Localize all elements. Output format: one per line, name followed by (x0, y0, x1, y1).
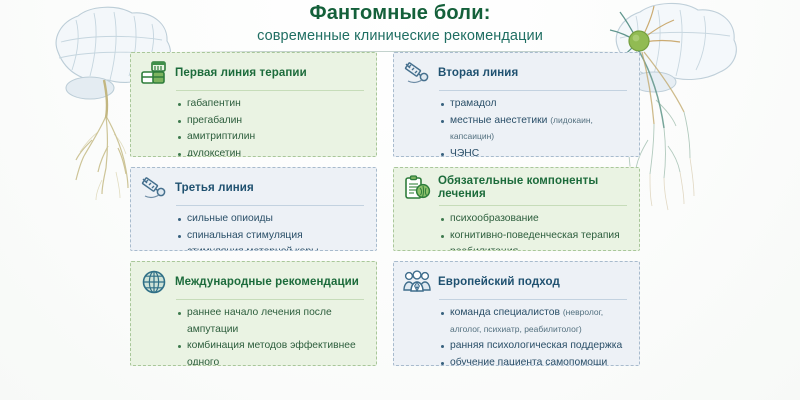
card-european-approach[interactable]: Европейский подход команда специалистов … (393, 261, 640, 366)
card-title-divider (439, 299, 627, 300)
card-header: Первая линия терапии (140, 60, 366, 90)
list-item: команда специалистов (невролог, алголог,… (441, 305, 629, 338)
card-title-divider (176, 90, 364, 91)
card-title: Обязательные компоненты лечения (438, 175, 629, 200)
card-bullet-list: команда специалистов (невролог, алголог,… (403, 305, 629, 366)
list-item: местные анестетики (лидокаин, капсаицин) (441, 113, 629, 146)
infographic-page: Фантомные боли: современные клинические … (0, 0, 800, 400)
card-title-divider (439, 90, 627, 91)
card-title-divider (176, 205, 364, 206)
card-header: Европейский подход (403, 269, 629, 299)
card-international-recommendations[interactable]: Международные рекомендации раннее начало… (130, 261, 377, 366)
list-item: когнитивно-поведенческая терапия (441, 228, 629, 245)
card-title: Международные рекомендации (175, 276, 359, 289)
card-third-line[interactable]: Третья линия сильные опиоиды спинальная … (130, 167, 377, 251)
card-second-line[interactable]: Вторая линия трамадол местные анестетики… (393, 52, 640, 157)
card-header: Обязательные компоненты лечения (403, 175, 629, 205)
card-bullet-list: габапентин прегабалин амитриптилин дулок… (140, 96, 366, 157)
list-item: реабилитация (441, 244, 629, 251)
list-item: дулоксетин (178, 146, 366, 157)
card-mandatory-components[interactable]: Обязательные компоненты лечения психообр… (393, 167, 640, 251)
list-item: прегабалин (178, 113, 366, 130)
card-bullet-list: раннее начало лечения после ампутации ко… (140, 305, 366, 366)
syringe-icon (403, 60, 431, 86)
page-title: Фантомные боли: (0, 2, 800, 25)
list-item: габапентин (178, 96, 366, 113)
globe-icon (140, 269, 168, 295)
list-item: ЧЭНС (441, 146, 629, 157)
card-bullet-list: психообразование когнитивно-поведенческа… (403, 211, 629, 251)
card-first-line-therapy[interactable]: Первая линия терапии габапентин прегабал… (130, 52, 377, 157)
clipboard-brain-icon (403, 175, 431, 201)
list-item: стимуляция моторной коры (178, 244, 366, 251)
card-bullet-list: трамадол местные анестетики (лидокаин, к… (403, 96, 629, 157)
pills-box-icon (140, 60, 168, 86)
card-title: Третья линия (175, 182, 254, 195)
card-title: Европейский подход (438, 276, 560, 289)
card-bullet-list: сильные опиоиды спинальная стимуляция ст… (140, 211, 366, 251)
list-item: трамадол (441, 96, 629, 113)
card-title: Вторая линия (438, 67, 518, 80)
list-item: ранняя психологическая поддержка (441, 338, 629, 355)
medical-team-icon (403, 269, 431, 295)
syringe-icon (140, 175, 168, 201)
page-header: Фантомные боли: современные клинические … (0, 2, 800, 52)
header-divider (180, 51, 620, 52)
list-item: спинальная стимуляция (178, 228, 366, 245)
card-title: Первая линия терапии (175, 67, 307, 80)
list-item: сильные опиоиды (178, 211, 366, 228)
list-item: обучение пациента самопомощи (441, 355, 629, 366)
page-subtitle: современные клинические рекомендации (0, 28, 800, 44)
list-item: раннее начало лечения после ампутации (178, 305, 366, 338)
card-title-divider (176, 299, 364, 300)
card-header: Международные рекомендации (140, 269, 366, 299)
card-header: Вторая линия (403, 60, 629, 90)
list-item: комбинация методов эффективнее одного (178, 338, 366, 366)
list-item: психообразование (441, 211, 629, 228)
cards-grid: Первая линия терапии габапентин прегабал… (130, 52, 640, 366)
card-header: Третья линия (140, 175, 366, 205)
card-title-divider (439, 205, 627, 206)
list-item: амитриптилин (178, 129, 366, 146)
